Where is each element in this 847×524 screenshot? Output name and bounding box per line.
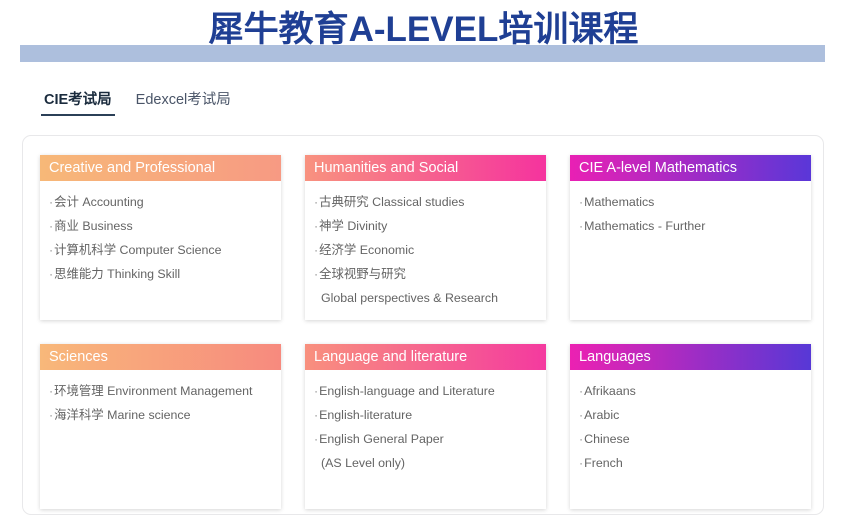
course-item-label: Arabic — [584, 408, 619, 422]
course-item-label: 全球视野与研究 — [319, 267, 406, 281]
course-card-title: Sciences — [49, 344, 108, 370]
course-item: ·Mathematics — [579, 190, 802, 214]
course-item: ·经济学 Economic — [314, 238, 537, 262]
course-item-label: Global perspectives & Research — [321, 291, 498, 305]
course-item-label: 计算机科学 Computer Science — [54, 243, 221, 257]
bullet-icon: · — [314, 432, 318, 446]
bullet-icon: · — [579, 219, 583, 233]
course-card-header: Creative and Professional — [40, 155, 281, 181]
course-item-label: 神学 Divinity — [319, 219, 387, 233]
bullet-icon: · — [579, 456, 583, 470]
course-item: ·French — [579, 451, 802, 475]
bullet-icon: · — [49, 267, 53, 281]
course-item: ·English-language and Literature — [314, 379, 537, 403]
course-item-label: English-literature — [319, 408, 412, 422]
bullet-icon: · — [314, 408, 318, 422]
course-item: ·Chinese — [579, 427, 802, 451]
course-card-header: Humanities and Social — [305, 155, 546, 181]
course-item: ·思维能力 Thinking Skill — [49, 262, 272, 286]
page-title: 犀牛教育A-LEVEL培训课程 — [0, 8, 847, 52]
course-item-label: 商业 Business — [54, 219, 133, 233]
tab-edexcel[interactable]: Edexcel考试局 — [133, 90, 234, 116]
course-card-header: Languages — [570, 344, 811, 370]
course-item-label: Mathematics — [584, 195, 654, 209]
bullet-icon: · — [49, 408, 53, 422]
course-item: ·会计 Accounting — [49, 190, 272, 214]
page-header: 犀牛教育A-LEVEL培训课程 — [0, 0, 847, 72]
course-item-label: English-language and Literature — [319, 384, 495, 398]
bullet-icon: · — [49, 195, 53, 209]
course-card-header: Language and literature — [305, 344, 546, 370]
course-item-label: 会计 Accounting — [54, 195, 144, 209]
course-item-label: Afrikaans — [584, 384, 636, 398]
course-item: ·海洋科学 Marine science — [49, 403, 272, 427]
course-card[interactable]: Sciences ·环境管理 Environment Management ·海… — [40, 344, 281, 509]
course-item: ·计算机科学 Computer Science — [49, 238, 272, 262]
course-item-label: 海洋科学 Marine science — [54, 408, 190, 422]
exam-board-tabs: CIE考试局 Edexcel考试局 — [41, 90, 234, 116]
course-item: ·环境管理 Environment Management — [49, 379, 272, 403]
course-item-continuation: Global perspectives & Research — [314, 286, 537, 310]
course-card[interactable]: Language and literature ·English-languag… — [305, 344, 546, 509]
course-item: ·全球视野与研究 — [314, 262, 537, 286]
course-item: ·Afrikaans — [579, 379, 802, 403]
course-card-body: ·环境管理 Environment Management ·海洋科学 Marin… — [40, 370, 281, 509]
course-card-body: ·Afrikaans ·Arabic ·Chinese ·French — [570, 370, 811, 509]
course-card-title: Humanities and Social — [314, 155, 458, 181]
course-item-label: 经济学 Economic — [319, 243, 414, 257]
course-item-continuation: (AS Level only) — [314, 451, 537, 475]
tab-cie-label: CIE考试局 — [44, 92, 112, 108]
course-item-label: 环境管理 Environment Management — [54, 384, 252, 398]
course-item: ·English General Paper — [314, 427, 537, 451]
tab-cie[interactable]: CIE考试局 — [41, 90, 115, 116]
bullet-icon: · — [314, 267, 318, 281]
tab-edexcel-label: Edexcel考试局 — [136, 92, 231, 108]
course-card[interactable]: Languages ·Afrikaans ·Arabic ·Chinese ·F… — [570, 344, 811, 509]
course-card-title: CIE A-level Mathematics — [579, 155, 737, 181]
course-item: ·Arabic — [579, 403, 802, 427]
bullet-icon: · — [579, 384, 583, 398]
course-item-label: Chinese — [584, 432, 629, 446]
course-item: ·商业 Business — [49, 214, 272, 238]
course-item: ·Mathematics - Further — [579, 214, 802, 238]
course-card-header: CIE A-level Mathematics — [570, 155, 811, 181]
bullet-icon: · — [579, 195, 583, 209]
bullet-icon: · — [579, 432, 583, 446]
bullet-icon: · — [49, 243, 53, 257]
course-item: ·神学 Divinity — [314, 214, 537, 238]
course-item-label: Mathematics - Further — [584, 219, 705, 233]
bullet-icon: · — [314, 219, 318, 233]
course-card[interactable]: Humanities and Social ·古典研究 Classical st… — [305, 155, 546, 320]
course-card-body: ·Mathematics ·Mathematics - Further — [570, 181, 811, 320]
course-card[interactable]: Creative and Professional ·会计 Accounting… — [40, 155, 281, 320]
bullet-icon: · — [49, 384, 53, 398]
bullet-icon: · — [49, 219, 53, 233]
course-card-header: Sciences — [40, 344, 281, 370]
bullet-icon: · — [314, 243, 318, 257]
course-card-body: ·English-language and Literature ·Englis… — [305, 370, 546, 509]
course-card-grid: Creative and Professional ·会计 Accounting… — [40, 155, 806, 509]
course-item-label: 古典研究 Classical studies — [319, 195, 464, 209]
course-card-title: Creative and Professional — [49, 155, 215, 181]
course-item-label: French — [584, 456, 623, 470]
bullet-icon: · — [579, 408, 583, 422]
course-item-label: 思维能力 Thinking Skill — [54, 267, 180, 281]
course-item-label: English General Paper — [319, 432, 444, 446]
course-card-body: ·古典研究 Classical studies ·神学 Divinity ·经济… — [305, 181, 546, 320]
course-card-body: ·会计 Accounting ·商业 Business ·计算机科学 Compu… — [40, 181, 281, 320]
bullet-icon: · — [314, 195, 318, 209]
bullet-icon: · — [314, 384, 318, 398]
course-card[interactable]: CIE A-level Mathematics ·Mathematics ·Ma… — [570, 155, 811, 320]
course-item: ·English-literature — [314, 403, 537, 427]
course-item: ·古典研究 Classical studies — [314, 190, 537, 214]
course-card-title: Language and literature — [314, 344, 467, 370]
course-card-title: Languages — [579, 344, 651, 370]
course-item-label: (AS Level only) — [321, 456, 405, 470]
